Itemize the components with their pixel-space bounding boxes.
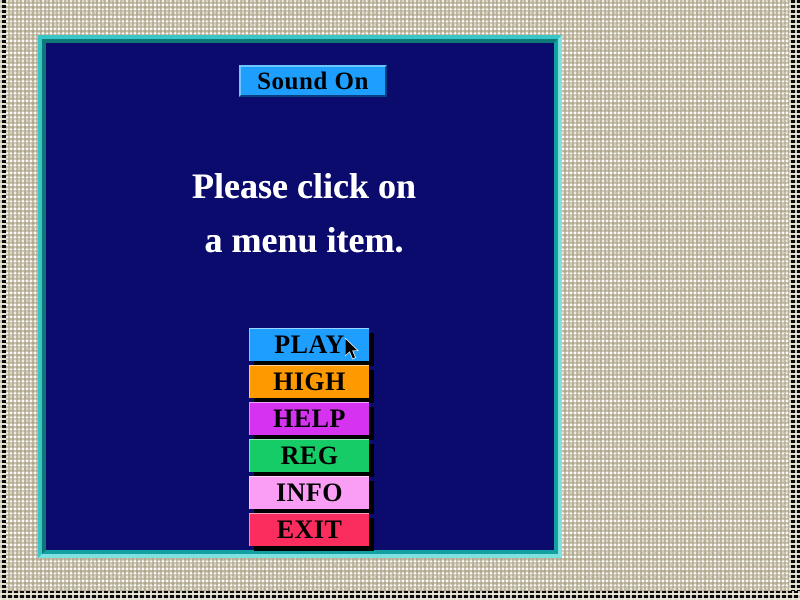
prompt-line-1: Please click on <box>50 159 558 213</box>
screen-frame-right <box>789 0 800 600</box>
menu-button-reg[interactable]: REG <box>249 439 369 472</box>
menu-button-stack: PLAY HIGH HELP REG INFO EXIT <box>249 328 379 550</box>
sound-toggle-label: Sound On <box>257 69 369 94</box>
menu-button-help[interactable]: HELP <box>249 402 369 435</box>
game-panel: Sound On Please click on a menu item. PL… <box>38 35 562 558</box>
menu-button-info[interactable]: INFO <box>249 476 369 509</box>
sound-toggle-button[interactable]: Sound On <box>239 65 387 97</box>
menu-button-label: EXIT <box>277 517 343 543</box>
menu-button-high[interactable]: HIGH <box>249 365 369 398</box>
menu-button-label: PLAY <box>274 332 344 358</box>
screen-frame-bottom <box>0 591 800 600</box>
prompt-message: Please click on a menu item. <box>50 159 558 267</box>
menu-button-label: REG <box>281 443 339 469</box>
menu-button-label: HIGH <box>273 369 346 395</box>
menu-button-play[interactable]: PLAY <box>249 328 369 361</box>
panel-content-area: Sound On Please click on a menu item. PL… <box>50 47 550 546</box>
menu-button-label: INFO <box>276 480 343 506</box>
menu-button-label: HELP <box>273 406 346 432</box>
application-screen: Sound On Please click on a menu item. PL… <box>0 0 800 600</box>
prompt-line-2: a menu item. <box>50 213 558 267</box>
screen-frame-left <box>0 0 6 600</box>
menu-button-exit[interactable]: EXIT <box>249 513 369 546</box>
